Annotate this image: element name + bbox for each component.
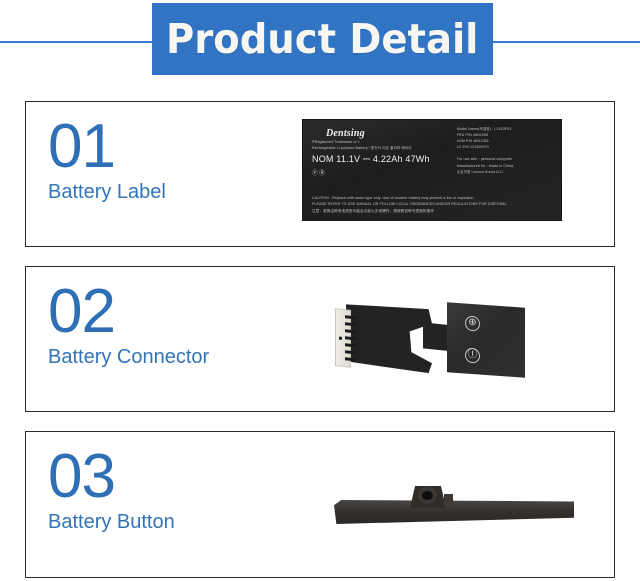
battery-rating: NOM 11.1V ⎓ 4.22Ah 47Wh [312, 154, 447, 165]
battery-label-figure: Dentsing ®Registered Trademark of L Rech… [303, 102, 578, 246]
battery-connector-figure: ⊕ Ⓘ [319, 267, 569, 411]
connector-pin [345, 357, 356, 361]
header-rule-left [0, 41, 153, 43]
card-number: 02 [48, 283, 209, 342]
battery-caution-line-3: 注意：更换这种电池类型可能会引起火灾或爆炸，请按照说明书里面的操作 [312, 208, 553, 214]
battery-label-photo: Dentsing ®Registered Trademark of L Rech… [303, 120, 561, 220]
battery-button-ring [418, 487, 437, 504]
connector-contact-pad: ⊕ Ⓘ [447, 302, 525, 377]
connector-pin [345, 322, 356, 326]
battery-button-tab [444, 494, 453, 506]
connector-flex-cable [346, 300, 432, 373]
page-header: Product Detail [0, 0, 640, 92]
battery-button-photo [326, 484, 578, 534]
plus-terminal-icon: ⊕ [465, 316, 480, 332]
card-caption: 02 Battery Connector [48, 283, 209, 369]
page-title: Product Detail [166, 19, 478, 60]
connector-pin [345, 343, 356, 347]
battery-certification-marks: ⒻⓇ [312, 168, 447, 177]
battery-chemistry-line: Rechargeable Li-polymer Battery / 충전식 이온… [312, 146, 447, 152]
card-label: Battery Button [48, 511, 175, 534]
battery-brand-logo: Dentsing [326, 128, 447, 139]
detail-card-battery-label: 01 Battery Label Dentsing ®Registered Tr… [25, 101, 615, 247]
minus-terminal-icon: Ⓘ [465, 348, 480, 364]
battery-manufacturer: 수입자명 Lenovo Korea LLC [457, 169, 553, 175]
connector-keying-dot [339, 337, 342, 340]
detail-card-battery-connector: 02 Battery Connector ⊕ Ⓘ [25, 266, 615, 412]
battery-button-figure [326, 432, 586, 577]
card-label: Battery Connector [48, 346, 209, 369]
connector-pin [345, 329, 356, 333]
detail-card-battery-button: 03 Battery Button [25, 431, 615, 578]
connector-pin [345, 350, 356, 354]
battery-connector-photo: ⊕ Ⓘ [319, 299, 559, 379]
connector-pin [345, 336, 356, 340]
connector-housing [335, 308, 351, 368]
battery-button-bar [334, 500, 574, 524]
battery-caution-block: CAUTION : Replace with same type only. U… [312, 195, 553, 214]
card-caption: 01 Battery Label [48, 118, 166, 204]
header-banner: Product Detail [152, 3, 493, 75]
card-label: Battery Label [48, 181, 166, 204]
card-caption: 03 Battery Button [48, 448, 175, 534]
card-number: 01 [48, 118, 166, 177]
header-rule-right [492, 41, 640, 43]
card-number: 03 [48, 448, 175, 507]
connector-pin [345, 315, 356, 319]
